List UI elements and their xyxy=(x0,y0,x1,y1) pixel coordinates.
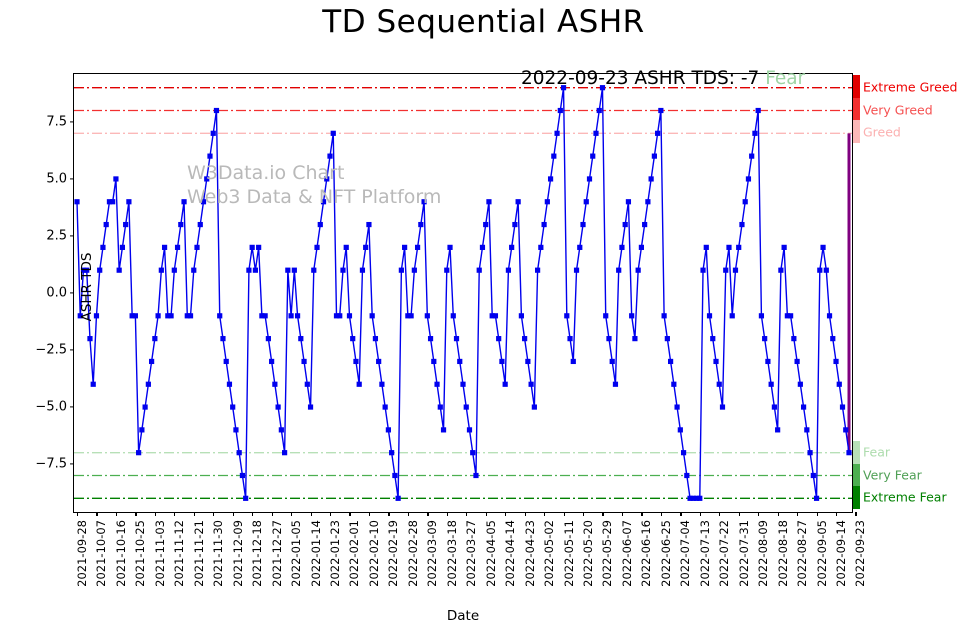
data-point xyxy=(759,313,764,318)
x-tick-mark xyxy=(272,512,273,516)
x-tick-mark xyxy=(778,512,779,516)
data-point xyxy=(567,336,572,341)
data-point xyxy=(457,359,462,364)
data-point xyxy=(707,313,712,318)
data-point xyxy=(360,268,365,273)
data-point xyxy=(739,222,744,227)
data-point xyxy=(665,336,670,341)
data-point xyxy=(830,336,835,341)
data-point xyxy=(610,359,615,364)
zone-label-extreme-fear: Extreme Fear xyxy=(863,490,947,505)
x-tick-label: 2021-10-16 xyxy=(114,520,128,587)
data-point xyxy=(678,427,683,432)
data-point xyxy=(801,404,806,409)
chart-page: TD Sequential ASHR −7.5−5.0−2.50.02.55.0… xyxy=(0,0,967,633)
y-tick-label: 7.5 xyxy=(46,114,67,129)
data-point xyxy=(318,222,323,227)
x-tick-label: 2022-01-14 xyxy=(309,520,323,587)
data-point xyxy=(383,404,388,409)
data-point xyxy=(217,313,222,318)
data-point xyxy=(535,268,540,273)
data-point xyxy=(272,382,277,387)
data-point xyxy=(327,154,332,159)
data-point xyxy=(756,108,761,113)
data-point xyxy=(668,359,673,364)
data-point xyxy=(305,382,310,387)
data-point xyxy=(263,313,268,318)
data-point xyxy=(522,336,527,341)
data-point xyxy=(113,176,118,181)
data-point xyxy=(250,245,255,250)
data-point xyxy=(525,359,530,364)
x-tick-label: 2022-07-13 xyxy=(698,520,712,587)
y-tick-mark xyxy=(70,464,74,465)
data-point xyxy=(720,404,725,409)
data-point xyxy=(181,199,186,204)
data-point xyxy=(636,268,641,273)
x-tick-label: 2022-04-05 xyxy=(484,520,498,587)
y-tick-label: 5.0 xyxy=(46,171,67,186)
data-point xyxy=(143,404,148,409)
data-point xyxy=(240,473,245,478)
x-tick-mark xyxy=(544,512,545,516)
x-tick-mark xyxy=(116,512,117,516)
x-tick-mark xyxy=(447,512,448,516)
x-tick-mark xyxy=(836,512,837,516)
y-tick-label: 0.0 xyxy=(46,286,67,301)
tds-series-line xyxy=(77,88,849,499)
x-tick-mark xyxy=(135,512,136,516)
x-tick-mark xyxy=(700,512,701,516)
data-point xyxy=(571,359,576,364)
data-point xyxy=(104,222,109,227)
current-value-annotation: 2022-09-23 ASHR TDS: -7 Fear xyxy=(521,68,805,89)
data-point xyxy=(431,359,436,364)
data-point xyxy=(292,268,297,273)
x-tick-mark xyxy=(622,512,623,516)
x-tick-mark xyxy=(525,512,526,516)
data-point xyxy=(642,222,647,227)
x-tick-label: 2022-05-02 xyxy=(542,520,556,587)
x-tick-label: 2022-04-23 xyxy=(523,520,537,587)
data-point xyxy=(146,382,151,387)
data-point xyxy=(820,245,825,250)
data-point xyxy=(700,268,705,273)
data-point xyxy=(340,268,345,273)
data-point xyxy=(726,245,731,250)
x-tick-label: 2021-11-12 xyxy=(172,520,186,587)
x-tick-label: 2022-03-09 xyxy=(425,520,439,587)
data-point xyxy=(782,245,787,250)
annotation-sentiment: Fear xyxy=(765,68,805,89)
data-point xyxy=(804,427,809,432)
data-point xyxy=(480,245,485,250)
x-tick-mark xyxy=(680,512,681,516)
annotation-text: 2022-09-23 ASHR TDS: -7 xyxy=(521,68,759,89)
data-point xyxy=(493,313,498,318)
x-tick-mark xyxy=(486,512,487,516)
data-point xyxy=(168,313,173,318)
x-tick-label: 2022-09-14 xyxy=(834,520,848,587)
data-point xyxy=(110,199,115,204)
data-point xyxy=(237,450,242,455)
data-point xyxy=(464,404,469,409)
y-tick-label: −2.5 xyxy=(35,343,67,358)
data-point xyxy=(752,131,757,136)
data-point xyxy=(172,268,177,273)
data-point xyxy=(486,199,491,204)
data-point xyxy=(363,245,368,250)
x-tick-mark xyxy=(349,512,350,516)
zone-label-very-greed: Very Greed xyxy=(863,102,933,117)
data-point xyxy=(399,268,404,273)
data-point xyxy=(454,336,459,341)
x-tick-mark xyxy=(758,512,759,516)
y-tick-mark xyxy=(70,121,74,122)
data-point xyxy=(632,336,637,341)
x-tick-mark xyxy=(369,512,370,516)
data-point xyxy=(337,313,342,318)
x-tick-mark xyxy=(661,512,662,516)
data-point xyxy=(512,222,517,227)
data-point xyxy=(136,450,141,455)
x-tick-mark xyxy=(602,512,603,516)
data-point xyxy=(366,222,371,227)
zone-label-extreme-greed: Extreme Greed xyxy=(863,79,957,94)
data-point xyxy=(256,245,261,250)
plot-svg xyxy=(74,74,852,512)
watermark-line-1: W3Data.io Chart xyxy=(187,162,344,184)
x-tick-label: 2022-03-18 xyxy=(445,520,459,587)
data-point xyxy=(198,222,203,227)
data-point xyxy=(314,245,319,250)
data-point xyxy=(590,154,595,159)
data-point xyxy=(211,131,216,136)
x-tick-mark xyxy=(330,512,331,516)
data-point xyxy=(710,336,715,341)
data-point xyxy=(311,268,316,273)
x-tick-mark xyxy=(311,512,312,516)
data-point xyxy=(214,108,219,113)
y-tick-label: −5.0 xyxy=(35,400,67,415)
data-point xyxy=(415,245,420,250)
data-point xyxy=(425,313,430,318)
data-point xyxy=(347,313,352,318)
data-point xyxy=(503,382,508,387)
y-tick-label: 2.5 xyxy=(46,228,67,243)
x-tick-label: 2022-01-23 xyxy=(328,520,342,587)
zone-label-fear: Fear xyxy=(863,444,890,459)
data-point xyxy=(713,359,718,364)
data-point xyxy=(402,245,407,250)
data-point xyxy=(519,313,524,318)
data-point xyxy=(207,154,212,159)
data-point xyxy=(795,359,800,364)
x-tick-mark xyxy=(155,512,156,516)
x-tick-mark xyxy=(427,512,428,516)
data-point xyxy=(674,404,679,409)
data-point xyxy=(428,336,433,341)
zone-label-very-fear: Very Fear xyxy=(863,467,922,482)
x-tick-label: 2021-09-28 xyxy=(75,520,89,587)
x-tick-label: 2022-02-10 xyxy=(367,520,381,587)
data-point xyxy=(684,473,689,478)
data-point xyxy=(230,404,235,409)
data-point xyxy=(772,404,777,409)
data-point xyxy=(626,199,631,204)
data-point xyxy=(824,268,829,273)
data-point xyxy=(308,404,313,409)
x-tick-label: 2022-07-22 xyxy=(717,520,731,587)
data-point xyxy=(396,496,401,501)
data-point xyxy=(418,222,423,227)
data-point xyxy=(658,108,663,113)
x-tick-label: 2021-11-03 xyxy=(153,520,167,587)
x-tick-label: 2021-11-30 xyxy=(211,520,225,587)
data-point xyxy=(613,382,618,387)
data-point xyxy=(191,268,196,273)
data-point xyxy=(477,268,482,273)
x-tick-mark xyxy=(388,512,389,516)
y-axis-label: ASHR TDS xyxy=(79,227,95,347)
data-point xyxy=(629,313,634,318)
data-point xyxy=(123,222,128,227)
x-tick-label: 2021-12-27 xyxy=(270,520,284,587)
x-tick-label: 2021-10-25 xyxy=(133,520,147,587)
data-point xyxy=(357,382,362,387)
data-point xyxy=(509,245,514,250)
data-point xyxy=(645,199,650,204)
data-point xyxy=(499,359,504,364)
data-point xyxy=(379,382,384,387)
zone-label-greed: Greed xyxy=(863,125,901,140)
data-point xyxy=(652,154,657,159)
data-point xyxy=(814,496,819,501)
x-tick-mark xyxy=(77,512,78,516)
data-point xyxy=(376,359,381,364)
data-point xyxy=(139,427,144,432)
x-tick-mark xyxy=(505,512,506,516)
data-point xyxy=(97,268,102,273)
data-point xyxy=(833,359,838,364)
data-point xyxy=(769,382,774,387)
x-tick-mark xyxy=(564,512,565,516)
data-point xyxy=(749,154,754,159)
data-point xyxy=(276,404,281,409)
x-tick-mark xyxy=(96,512,97,516)
x-tick-mark xyxy=(291,512,292,516)
data-point xyxy=(584,199,589,204)
data-point xyxy=(662,313,667,318)
x-tick-label: 2022-06-25 xyxy=(659,520,673,587)
x-tick-mark xyxy=(408,512,409,516)
data-point xyxy=(447,245,452,250)
data-point xyxy=(392,473,397,478)
tds-series-markers xyxy=(74,85,851,501)
data-point xyxy=(155,313,160,318)
data-point xyxy=(412,268,417,273)
data-point xyxy=(564,313,569,318)
data-point xyxy=(541,222,546,227)
x-tick-label: 2021-10-07 xyxy=(94,520,108,587)
watermark-line-2: Web3 Data & NFT Platform xyxy=(187,186,441,208)
data-point xyxy=(577,245,582,250)
data-point xyxy=(606,336,611,341)
data-point xyxy=(282,450,287,455)
data-point xyxy=(778,268,783,273)
data-point xyxy=(162,245,167,250)
x-tick-label: 2022-05-20 xyxy=(581,520,595,587)
data-point xyxy=(843,427,848,432)
x-tick-mark xyxy=(194,512,195,516)
data-point xyxy=(681,450,686,455)
y-tick-mark xyxy=(70,349,74,350)
x-tick-label: 2022-03-27 xyxy=(464,520,478,587)
x-tick-label: 2022-04-14 xyxy=(503,520,517,587)
data-point xyxy=(548,176,553,181)
x-tick-label: 2022-02-19 xyxy=(386,520,400,587)
zone-swatch-3 xyxy=(853,441,860,464)
data-point xyxy=(619,245,624,250)
x-tick-label: 2022-08-09 xyxy=(756,520,770,587)
data-point xyxy=(837,382,842,387)
data-point xyxy=(370,313,375,318)
data-point xyxy=(846,450,851,455)
x-tick-label: 2022-01-05 xyxy=(289,520,303,587)
data-point xyxy=(288,313,293,318)
data-point xyxy=(788,313,793,318)
x-tick-mark xyxy=(641,512,642,516)
data-point xyxy=(373,336,378,341)
data-point xyxy=(483,222,488,227)
data-point xyxy=(545,199,550,204)
data-point xyxy=(152,336,157,341)
data-point xyxy=(243,496,248,501)
data-point xyxy=(840,404,845,409)
data-point xyxy=(746,176,751,181)
x-tick-label: 2022-06-07 xyxy=(620,520,634,587)
x-tick-mark xyxy=(583,512,584,516)
zone-threshold-lines xyxy=(74,88,852,499)
x-tick-label: 2022-02-28 xyxy=(406,520,420,587)
data-point xyxy=(220,336,225,341)
x-axis-label: Date xyxy=(73,608,853,624)
data-point xyxy=(717,382,722,387)
data-point xyxy=(295,313,300,318)
data-point xyxy=(558,108,563,113)
data-point xyxy=(253,268,258,273)
data-point xyxy=(224,359,229,364)
x-tick-mark xyxy=(466,512,467,516)
x-tick-mark xyxy=(817,512,818,516)
data-point xyxy=(266,336,271,341)
y-tick-mark xyxy=(70,292,74,293)
zone-swatch-5 xyxy=(853,486,860,509)
data-point xyxy=(587,176,592,181)
y-tick-mark xyxy=(70,406,74,407)
data-point xyxy=(269,359,274,364)
x-tick-label: 2022-08-27 xyxy=(795,520,809,587)
data-point xyxy=(74,199,79,204)
data-point xyxy=(473,473,478,478)
data-point xyxy=(807,450,812,455)
data-point xyxy=(655,131,660,136)
data-point xyxy=(389,450,394,455)
data-point xyxy=(671,382,676,387)
data-point xyxy=(580,222,585,227)
y-tick-mark xyxy=(70,178,74,179)
data-point xyxy=(616,268,621,273)
data-point xyxy=(298,336,303,341)
x-tick-label: 2021-12-18 xyxy=(250,520,264,587)
data-point xyxy=(149,359,154,364)
x-tick-mark xyxy=(233,512,234,516)
data-point xyxy=(623,222,628,227)
data-point xyxy=(765,359,770,364)
data-point xyxy=(194,245,199,250)
data-point xyxy=(574,268,579,273)
data-point xyxy=(603,313,608,318)
x-tick-mark xyxy=(797,512,798,516)
data-point xyxy=(593,131,598,136)
zone-swatch-1 xyxy=(853,98,860,121)
data-point xyxy=(438,404,443,409)
data-point xyxy=(331,131,336,136)
data-point xyxy=(704,245,709,250)
data-point xyxy=(532,404,537,409)
data-point xyxy=(516,199,521,204)
data-point xyxy=(597,108,602,113)
x-tick-label: 2022-06-16 xyxy=(639,520,653,587)
zone-swatch-0 xyxy=(853,75,860,98)
data-point xyxy=(188,313,193,318)
x-tick-label: 2021-11-21 xyxy=(192,520,206,587)
data-point xyxy=(117,268,122,273)
data-point xyxy=(791,336,796,341)
data-point xyxy=(279,427,284,432)
data-point xyxy=(743,199,748,204)
data-point xyxy=(409,313,414,318)
x-tick-mark xyxy=(213,512,214,516)
data-point xyxy=(470,450,475,455)
data-point xyxy=(554,131,559,136)
data-point xyxy=(451,313,456,318)
data-point xyxy=(227,382,232,387)
data-point xyxy=(175,245,180,250)
data-point xyxy=(350,336,355,341)
y-tick-mark xyxy=(70,235,74,236)
data-point xyxy=(120,245,125,250)
data-point xyxy=(344,245,349,250)
x-tick-label: 2021-12-09 xyxy=(231,520,245,587)
x-tick-label: 2022-05-11 xyxy=(562,520,576,587)
data-point xyxy=(762,336,767,341)
data-point xyxy=(775,427,780,432)
page-title: TD Sequential ASHR xyxy=(0,4,967,40)
x-tick-label: 2022-02-01 xyxy=(347,520,361,587)
data-point xyxy=(827,313,832,318)
data-point xyxy=(285,268,290,273)
data-point xyxy=(126,199,131,204)
data-point xyxy=(233,427,238,432)
plot-area: −7.5−5.0−2.50.02.55.07.5 2021-09-282021-… xyxy=(73,73,853,513)
data-point xyxy=(817,268,822,273)
data-point xyxy=(736,245,741,250)
data-point xyxy=(434,382,439,387)
data-point xyxy=(353,359,358,364)
data-point xyxy=(100,245,105,250)
x-tick-label: 2022-09-23 xyxy=(853,520,867,587)
